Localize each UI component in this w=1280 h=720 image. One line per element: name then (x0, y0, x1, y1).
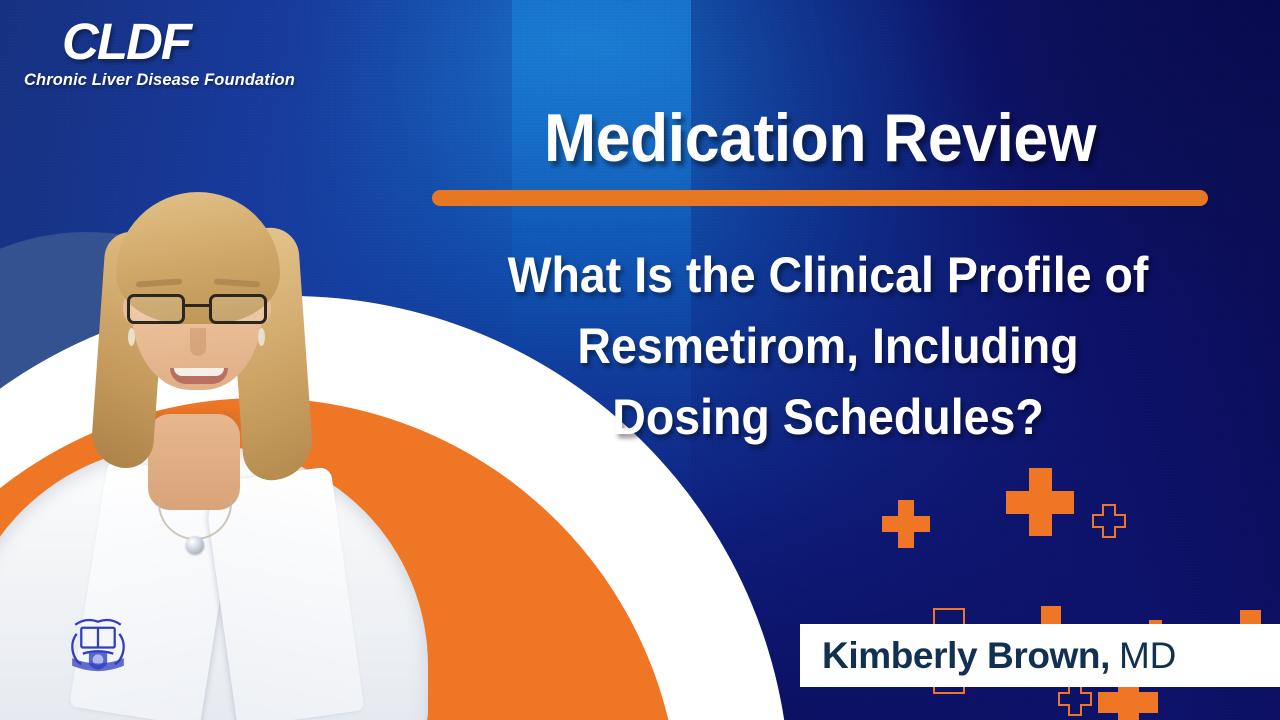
speaker-nameplate: Kimberly Brown, MD (800, 624, 1280, 687)
title-underline-bar (432, 190, 1208, 206)
mouth (170, 368, 228, 384)
earring-left (128, 328, 135, 346)
cldf-logo: CLDF Chronic Liver Disease Foundation (24, 16, 286, 88)
logo-wordmark: CLDF (24, 16, 286, 67)
eyeglass-lens-left (127, 294, 185, 324)
presentation-slide: CLDF Chronic Liver Disease Foundation Me… (0, 0, 1280, 720)
teeth (174, 368, 224, 376)
lab-coat-crest-icon (60, 608, 136, 684)
question-line-3: Dosing Schedules? (430, 382, 1226, 453)
logo-tagline: Chronic Liver Disease Foundation (24, 71, 286, 90)
eyeglass-bridge (185, 304, 211, 307)
plus-cross-outline-icon (1058, 682, 1092, 716)
earring-right (258, 328, 265, 346)
plus-cross-outline-icon (1092, 504, 1126, 538)
slide-title: Medication Review (445, 104, 1196, 173)
necklace-pendant (186, 536, 204, 554)
neck (148, 414, 240, 510)
question-line-2: Resmetirom, Including (430, 311, 1226, 382)
question-text: What Is the Clinical Profile of Resmetir… (430, 240, 1226, 453)
eyeglass-lens-right (209, 294, 267, 324)
headline-container: Medication Review (412, 104, 1228, 173)
speaker-credentials: MD (1119, 635, 1176, 677)
plus-cross-solid-icon (882, 500, 930, 548)
question-line-1: What Is the Clinical Profile of (430, 240, 1226, 311)
speaker-portrait (0, 96, 392, 720)
speaker-name: Kimberly Brown, (822, 635, 1110, 677)
nose (190, 328, 206, 356)
eyeglasses (125, 292, 269, 326)
plus-cross-solid-icon (1006, 468, 1074, 536)
